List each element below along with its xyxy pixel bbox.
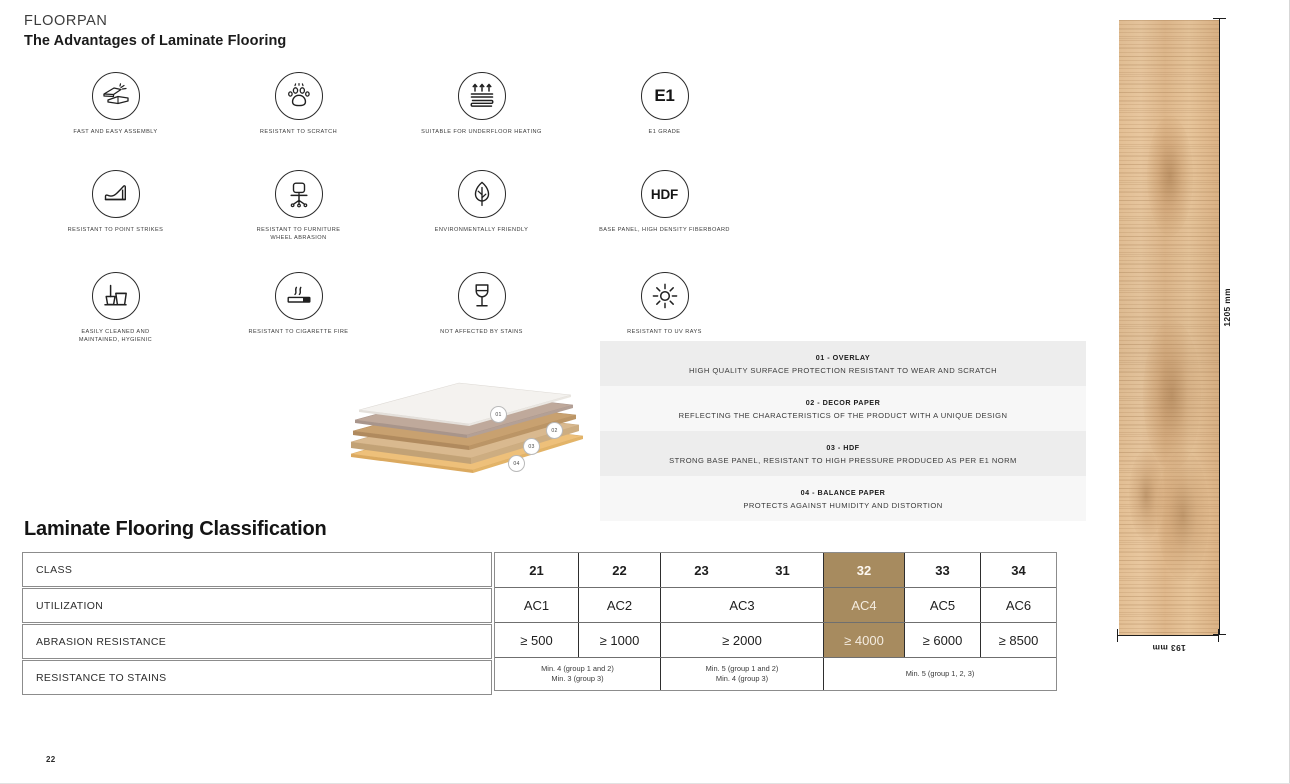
class-cell-34: 34 bbox=[980, 553, 1056, 587]
feature-label: ENVIRONMENTALLY FRIENDLY bbox=[435, 227, 529, 235]
width-dimension-label: 193 mm bbox=[1130, 643, 1208, 653]
feature-not-affected-by-stains: NOT AFFECTED BY STAINS bbox=[390, 272, 573, 364]
classification-row-labels: CLASS UTILIZATION ABRASION RESISTANCE RE… bbox=[22, 552, 492, 695]
layer-marker-04: 04 bbox=[508, 455, 525, 472]
abrasion-row: ≥ 500 ≥ 1000 ≥ 2000 ≥ 4000 ≥ 6000 ≥ 8500 bbox=[495, 622, 1056, 657]
layer-legend-row-04: 04 - BALANCE PAPER PROTECTS AGAINST HUMI… bbox=[600, 476, 1086, 521]
wood-knot bbox=[1129, 450, 1163, 540]
width-tick-left bbox=[1117, 629, 1118, 642]
feature-label: NOT AFFECTED BY STAINS bbox=[440, 329, 523, 337]
layer-marker-03: 03 bbox=[523, 438, 540, 455]
wood-knot bbox=[1143, 320, 1201, 470]
width-tick-right bbox=[1218, 629, 1219, 642]
feature-label: RESISTANT TO FURNITURE WHEEL ABRASION bbox=[257, 227, 341, 242]
class-cell-32: 32 bbox=[823, 553, 904, 587]
page-canvas: FLOORPAN The Advantages of Laminate Floo… bbox=[0, 0, 1290, 784]
row-label-class: CLASS bbox=[22, 552, 492, 587]
class-cell-23: 23 bbox=[694, 563, 708, 578]
layer-title: 01 - OVERLAY bbox=[816, 353, 870, 362]
hdf-badge-text: HDF bbox=[651, 187, 678, 202]
class-cell-33: 33 bbox=[904, 553, 980, 587]
leaf-icon bbox=[458, 170, 506, 218]
e1-badge-text: E1 bbox=[654, 86, 674, 106]
layer-legend-row-01: 01 - OVERLAY HIGH QUALITY SURFACE PROTEC… bbox=[600, 341, 1086, 386]
feature-resistant-to-point-strikes: RESISTANT TO POINT STRIKES bbox=[24, 170, 207, 264]
utilization-row: AC1 AC2 AC3 AC4 AC5 AC6 bbox=[495, 587, 1056, 622]
layer-legend-row-02: 02 - DECOR PAPER REFLECTING THE CHARACTE… bbox=[600, 386, 1086, 431]
mop-and-bucket-icon bbox=[92, 272, 140, 320]
feature-row-2: RESISTANT TO POINT STRIKES RESIST bbox=[24, 170, 1084, 264]
layer-title: 03 - HDF bbox=[826, 443, 859, 452]
feature-label: SUITABLE FOR UNDERFLOOR HEATING bbox=[421, 129, 542, 137]
class-cell-23-31: 23 31 bbox=[660, 553, 823, 587]
stains-cell-group-a: Min. 4 (group 1 and 2) Min. 3 (group 3) bbox=[495, 658, 660, 690]
feature-suitable-for-underfloor-heating: SUITABLE FOR UNDERFLOOR HEATING bbox=[390, 72, 573, 160]
feature-base-panel-hdf: HDF BASE PANEL, HIGH DENSITY FIBERBOARD bbox=[573, 170, 756, 264]
length-tick-top bbox=[1213, 18, 1226, 19]
abrasion-cell-500: ≥ 500 bbox=[495, 623, 578, 657]
utilization-cell-ac1: AC1 bbox=[495, 588, 578, 622]
row-label-utilization: UTILIZATION bbox=[22, 588, 492, 623]
layer-legend-panel: 01 - OVERLAY HIGH QUALITY SURFACE PROTEC… bbox=[600, 341, 1086, 521]
feature-grid: FAST AND EASY ASSEMBLY RESISTANT TO SCRA… bbox=[24, 72, 1084, 364]
width-dimension-line bbox=[1117, 635, 1219, 636]
feature-label: RESISTANT TO SCRATCH bbox=[260, 129, 337, 137]
feature-label: E1 GRADE bbox=[649, 129, 681, 137]
utilization-cell-ac3: AC3 bbox=[660, 588, 823, 622]
length-dimension-label: 1205 mm bbox=[1222, 288, 1232, 327]
layer-marker-01: 01 bbox=[490, 406, 507, 423]
stains-cell-group-c: Min. 5 (group 1, 2, 3) bbox=[823, 658, 1056, 690]
class-cell-22: 22 bbox=[578, 553, 660, 587]
class-row: 21 22 23 31 32 33 34 bbox=[495, 553, 1056, 587]
layer-description: PROTECTS AGAINST HUMIDITY AND DISTORTION bbox=[743, 501, 942, 510]
abrasion-cell-8500: ≥ 8500 bbox=[980, 623, 1056, 657]
layer-construction-diagram: 01 02 03 04 bbox=[343, 378, 593, 478]
feature-row-1: FAST AND EASY ASSEMBLY RESISTANT TO SCRA… bbox=[24, 72, 1084, 160]
feature-easily-cleaned-hygienic: EASILY CLEANED AND MAINTAINED, HYGIENIC bbox=[24, 272, 207, 364]
class-cell-21: 21 bbox=[495, 553, 578, 587]
classification-title: Laminate Flooring Classification bbox=[24, 518, 327, 541]
abrasion-cell-1000: ≥ 1000 bbox=[578, 623, 660, 657]
click-plank-assembly-icon bbox=[92, 72, 140, 120]
row-label-abrasion-resistance: ABRASION RESISTANCE bbox=[22, 624, 492, 659]
feature-label: FAST AND EASY ASSEMBLY bbox=[73, 129, 157, 137]
feature-label: RESISTANT TO CIGARETTE FIRE bbox=[248, 329, 348, 337]
row-label-resistance-to-stains: RESISTANCE TO STAINS bbox=[22, 660, 492, 695]
classification-value-grid: 21 22 23 31 32 33 34 AC1 AC2 AC3 AC4 AC5… bbox=[494, 552, 1057, 691]
feature-fast-and-easy-assembly: FAST AND EASY ASSEMBLY bbox=[24, 72, 207, 160]
sun-uv-icon bbox=[641, 272, 689, 320]
plank-photo bbox=[1119, 20, 1219, 635]
stains-row: Min. 4 (group 1 and 2) Min. 3 (group 3) … bbox=[495, 657, 1056, 690]
feature-label: EASILY CLEANED AND MAINTAINED, HYGIENIC bbox=[79, 329, 152, 344]
feature-label: RESISTANT TO POINT STRIKES bbox=[68, 227, 164, 235]
high-heel-shoe-icon bbox=[92, 170, 140, 218]
layer-description: STRONG BASE PANEL, RESISTANT TO HIGH PRE… bbox=[669, 456, 1017, 465]
feature-resistant-to-cigarette-fire: RESISTANT TO CIGARETTE FIRE bbox=[207, 272, 390, 364]
office-chair-icon bbox=[275, 170, 323, 218]
layer-description: REFLECTING THE CHARACTERISTICS OF THE PR… bbox=[679, 411, 1008, 420]
abrasion-cell-2000: ≥ 2000 bbox=[660, 623, 823, 657]
abrasion-cell-4000: ≥ 4000 bbox=[823, 623, 904, 657]
utilization-cell-ac4: AC4 bbox=[823, 588, 904, 622]
layer-legend-row-03: 03 - HDF STRONG BASE PANEL, RESISTANT TO… bbox=[600, 431, 1086, 476]
layer-title: 02 - DECOR PAPER bbox=[806, 398, 881, 407]
feature-resistant-to-scratch: RESISTANT TO SCRATCH bbox=[207, 72, 390, 160]
utilization-cell-ac5: AC5 bbox=[904, 588, 980, 622]
feature-resistant-to-furniture-wheel-abrasion: RESISTANT TO FURNITURE WHEEL ABRASION bbox=[207, 170, 390, 264]
cigarette-icon bbox=[275, 272, 323, 320]
wood-knot bbox=[1147, 116, 1193, 236]
feature-label: RESISTANT TO UV RAYS bbox=[627, 329, 702, 337]
hdf-badge-icon: HDF bbox=[641, 170, 689, 218]
feature-environmentally-friendly: ENVIRONMENTALLY FRIENDLY bbox=[390, 170, 573, 264]
stains-cell-group-b: Min. 5 (group 1 and 2) Min. 4 (group 3) bbox=[660, 658, 823, 690]
page-title: The Advantages of Laminate Flooring bbox=[24, 33, 286, 50]
wood-knot bbox=[1157, 450, 1209, 580]
utilization-cell-ac6: AC6 bbox=[980, 588, 1056, 622]
layer-description: HIGH QUALITY SURFACE PROTECTION RESISTAN… bbox=[689, 366, 997, 375]
feature-label: BASE PANEL, HIGH DENSITY FIBERBOARD bbox=[599, 227, 730, 235]
brand-name: FLOORPAN bbox=[24, 13, 286, 29]
e1-grade-badge-icon: E1 bbox=[641, 72, 689, 120]
page-header: FLOORPAN The Advantages of Laminate Floo… bbox=[24, 13, 286, 50]
underfloor-heating-icon bbox=[458, 72, 506, 120]
length-dimension-line bbox=[1219, 18, 1220, 635]
paw-print-icon bbox=[275, 72, 323, 120]
feature-e1-grade: E1 E1 GRADE bbox=[573, 72, 756, 160]
page-number: 22 bbox=[46, 755, 56, 764]
abrasion-cell-6000: ≥ 6000 bbox=[904, 623, 980, 657]
layer-marker-02: 02 bbox=[546, 422, 563, 439]
plank-texture bbox=[1119, 20, 1219, 635]
wine-glass-icon bbox=[458, 272, 506, 320]
utilization-cell-ac2: AC2 bbox=[578, 588, 660, 622]
layer-title: 04 - BALANCE PAPER bbox=[801, 488, 886, 497]
class-cell-31: 31 bbox=[775, 563, 789, 578]
